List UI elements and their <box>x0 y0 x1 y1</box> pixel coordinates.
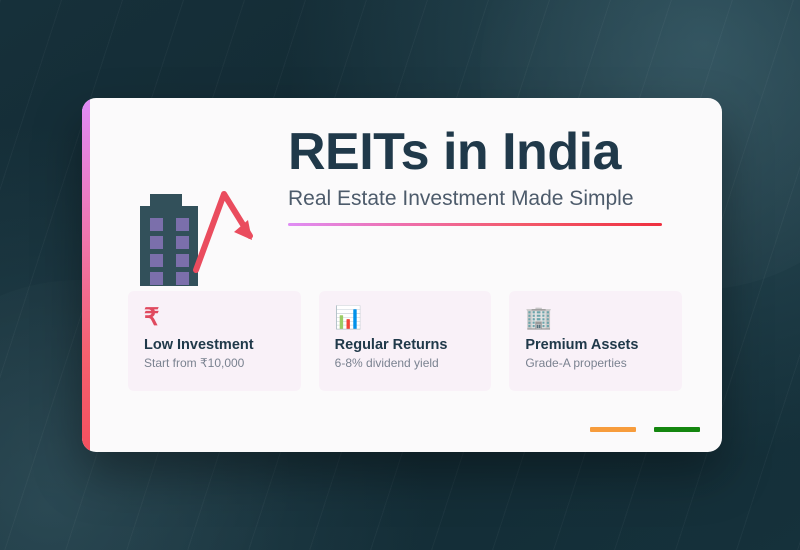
building-window <box>176 236 189 249</box>
title-underline-rule <box>288 223 662 226</box>
feature-subtitle: Start from ₹10,000 <box>144 356 285 370</box>
feature-title: Regular Returns <box>335 337 476 353</box>
page-subtitle: Real Estate Investment Made Simple <box>288 187 688 211</box>
feature-card-low-investment[interactable]: ₹ Low Investment Start from ₹10,000 <box>128 291 301 391</box>
hero-graphic <box>128 176 274 286</box>
building-windows <box>150 218 190 285</box>
saffron-bar <box>590 427 636 432</box>
building-window <box>150 218 163 231</box>
main-card: REITs in India Real Estate Investment Ma… <box>82 98 722 452</box>
building-window <box>150 272 163 285</box>
rupee-icon: ₹ <box>144 305 285 333</box>
bar-chart-icon: 📊 <box>335 305 476 333</box>
green-bar <box>654 427 700 432</box>
building-window <box>176 272 189 285</box>
feature-title: Low Investment <box>144 337 285 353</box>
feature-card-premium-assets[interactable]: 🏢 Premium Assets Grade-A properties <box>509 291 682 391</box>
building-window <box>176 218 189 231</box>
feature-subtitle: Grade-A properties <box>525 356 666 370</box>
office-building-icon: 🏢 <box>525 305 666 333</box>
page-title: REITs in India <box>288 124 688 181</box>
heading-block: REITs in India Real Estate Investment Ma… <box>288 124 688 226</box>
building-window <box>176 254 189 267</box>
building-window <box>150 236 163 249</box>
feature-subtitle: 6-8% dividend yield <box>335 356 476 370</box>
feature-title: Premium Assets <box>525 337 666 353</box>
left-gradient-strip <box>82 98 90 452</box>
building-window <box>150 254 163 267</box>
growth-arrow-icon <box>190 180 266 283</box>
feature-card-regular-returns[interactable]: 📊 Regular Returns 6-8% dividend yield <box>319 291 492 391</box>
hero-section: REITs in India Real Estate Investment Ma… <box>90 98 722 298</box>
feature-card-list: ₹ Low Investment Start from ₹10,000 📊 Re… <box>128 291 682 391</box>
accent-bar-group <box>590 427 700 432</box>
